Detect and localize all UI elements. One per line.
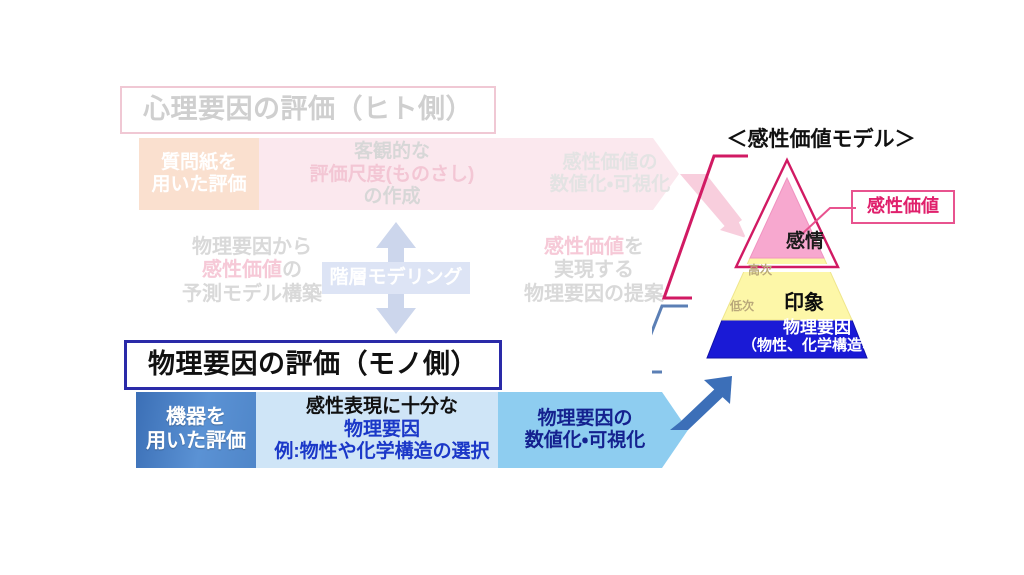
slide-canvas: 心理要因の評価（ヒト側） 質問紙を 用いた評価 客観的な 評価尺度(ものさし) …	[0, 0, 1024, 575]
badge-connector-line	[800, 200, 858, 236]
chevron1-line-1: 感性表現に十分な	[306, 396, 458, 418]
chevron1-line-2: 物理要因	[344, 419, 420, 441]
objective-scale-text: 客観的な 評価尺度(ものさし) の作成	[272, 134, 512, 216]
chevron2-line-2: 数値化・可視化	[525, 430, 645, 452]
hierarchical-modeling-label: 階層モデリング	[322, 260, 470, 296]
mid-left-line-3: 予測モデル構築	[182, 283, 322, 307]
mid-right-line-2: 実現する	[554, 259, 634, 283]
physical-section-title: 物理要因の評価（モノ側）	[124, 340, 502, 390]
scale-line-2: 評価尺度(ものさし)	[310, 164, 475, 186]
quantify-line-1: 感性価値の	[562, 152, 657, 174]
kansei-value-pyramid	[652, 150, 1024, 390]
mid-right-line-1-suffix: を	[624, 236, 644, 258]
questionnaire-line-1: 質問紙を	[161, 152, 237, 174]
mid-left-line-2-highlight: 感性価値	[202, 259, 282, 281]
device-line-1: 機器を	[166, 406, 226, 430]
physical-quantification-text: 物理要因の 数値化・可視化	[504, 392, 666, 468]
pyramid-layer-physical	[707, 320, 867, 358]
mid-right-line-1-highlight: 感性価値	[544, 236, 624, 258]
questionnaire-evaluation-box: 質問紙を 用いた評価	[139, 138, 259, 210]
chevron2-line-1: 物理要因の	[537, 408, 632, 430]
chevron1-line-3: 例:物性や化学構造の選択	[274, 441, 489, 463]
device-evaluation-box: 機器を 用いた評価	[136, 392, 256, 468]
bracket-kansei-icon	[664, 156, 748, 298]
mid-left-line-2-suffix: の	[282, 259, 302, 281]
psychological-section-title: 心理要因の評価（ヒト側）	[120, 86, 496, 134]
sufficient-physical-factor-text: 感性表現に十分な 物理要因 例:物性や化学構造の選択	[262, 390, 502, 470]
scale-line-3: の作成	[363, 186, 420, 208]
device-line-2: 用いた評価	[146, 430, 246, 454]
mid-left-line-1: 物理要因から	[192, 236, 312, 260]
scale-line-1: 客観的な	[354, 141, 430, 163]
mid-right-line-3: 物理要因の提案	[524, 283, 664, 307]
bracket-physical-icon	[652, 306, 688, 372]
kansei-value-badge: 感性価値	[851, 190, 955, 224]
questionnaire-line-2: 用いた評価	[151, 174, 246, 196]
